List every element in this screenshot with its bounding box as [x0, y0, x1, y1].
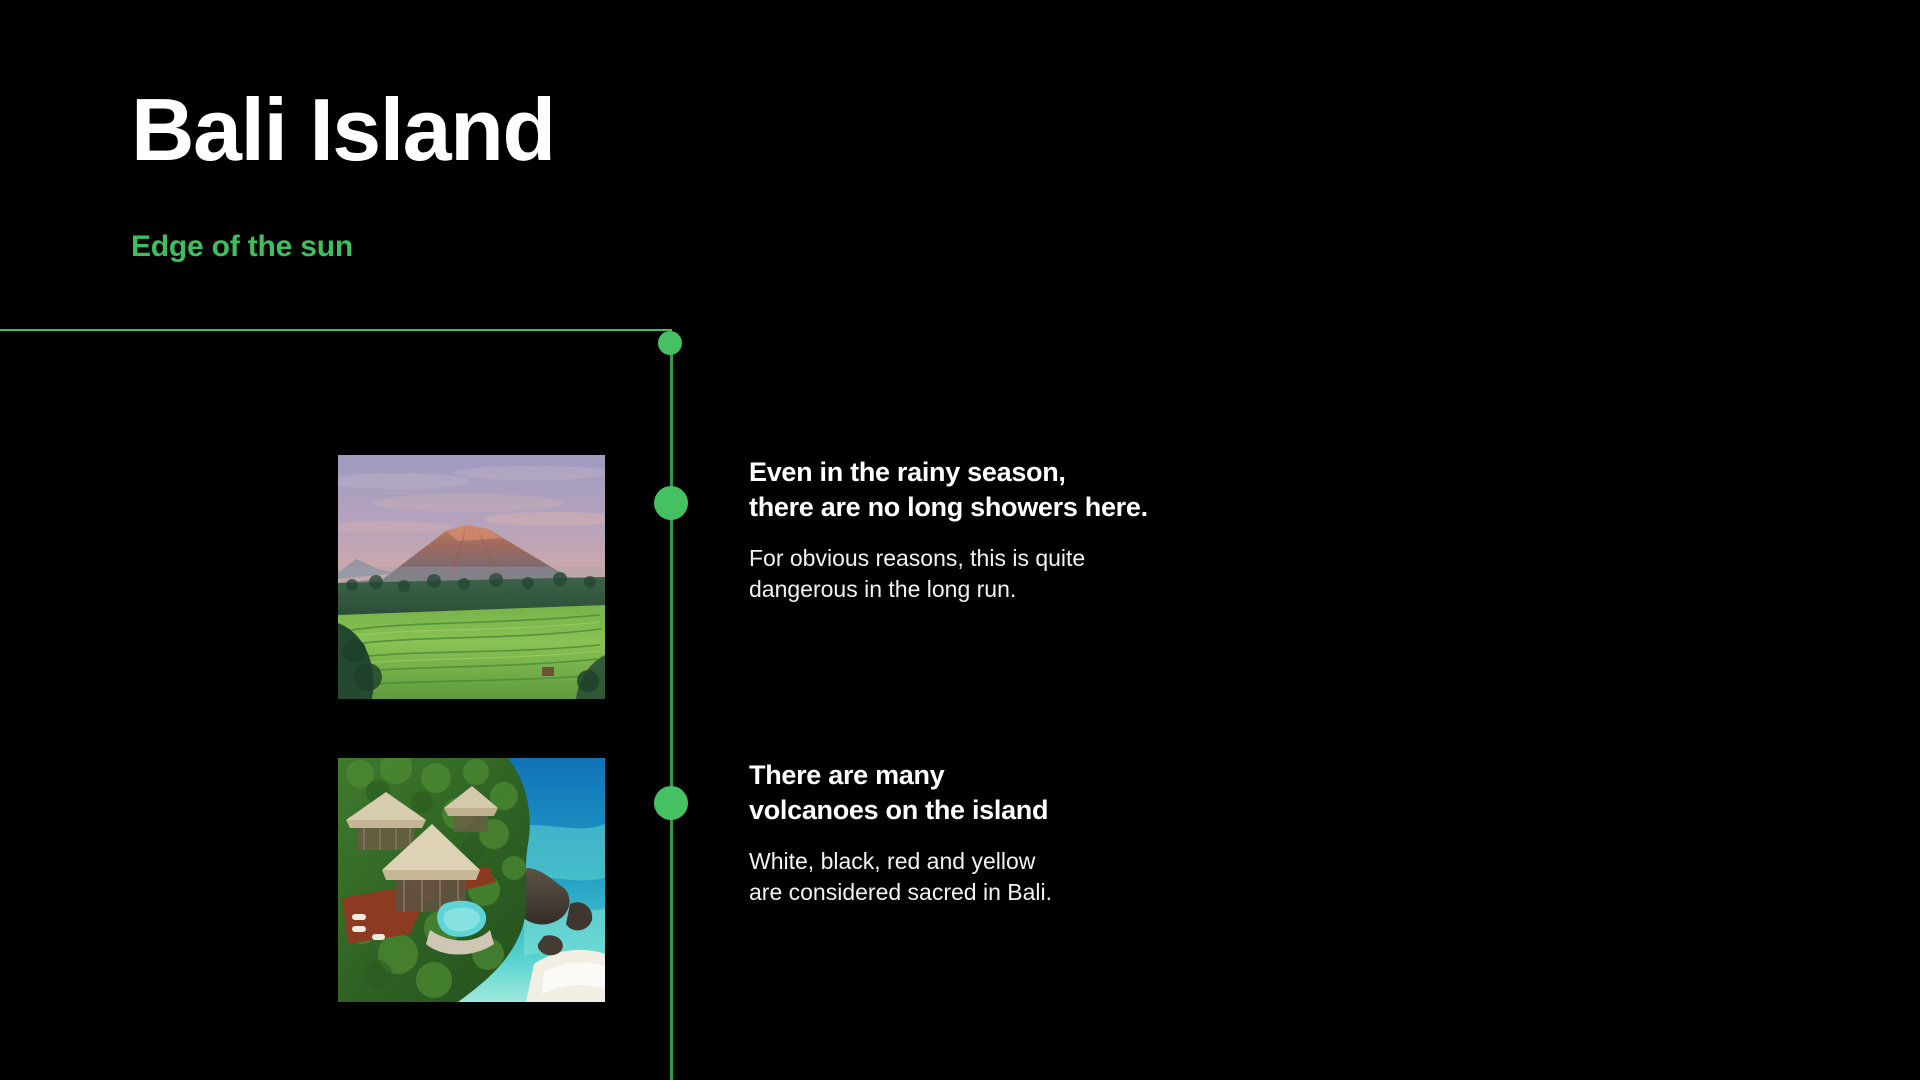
item-body: White, black, red and yellow are conside… [749, 846, 1052, 909]
thumbnail-volcano [338, 455, 605, 699]
volcano-rice-terraces-image [338, 455, 605, 699]
timeline-horizontal-rule [0, 329, 672, 331]
item-heading: There are many volcanoes on the island [749, 758, 1052, 828]
content-text-1: Even in the rainy season, there are no l… [749, 455, 1148, 606]
timeline-node-top-icon [658, 331, 682, 355]
timeline-vertical-rule [670, 336, 673, 1080]
timeline-node-1-icon [654, 486, 688, 520]
slide-header: Bali Island Edge of the sun [131, 86, 555, 264]
item-body: For obvious reasons, this is quite dange… [749, 543, 1148, 606]
content-text-2: There are many volcanoes on the island W… [749, 758, 1052, 909]
timeline-node-2-icon [654, 786, 688, 820]
thumbnail-resort [338, 758, 605, 1002]
item-heading: Even in the rainy season, there are no l… [749, 455, 1148, 525]
cliffside-resort-villas-image [338, 758, 605, 1002]
page-title: Bali Island [131, 86, 555, 174]
page-subtitle: Edge of the sun [131, 230, 555, 264]
